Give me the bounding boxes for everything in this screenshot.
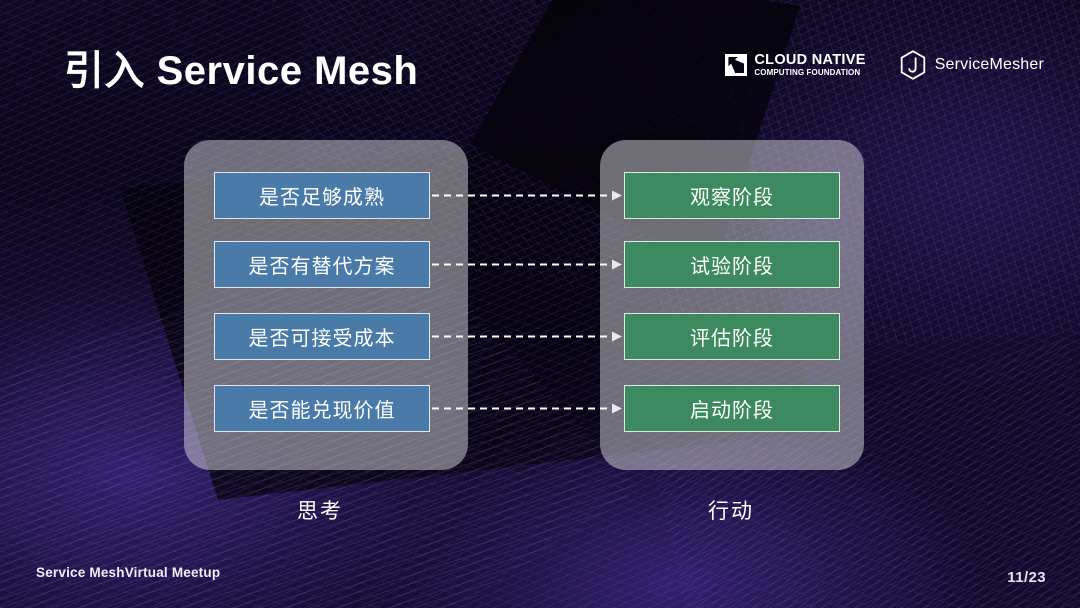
cncf-wordmark: CLOUD NATIVE COMPUTING FOUNDATION (754, 53, 865, 78)
cncf-logo-line2: COMPUTING FOUNDATION (754, 69, 865, 77)
page-title: 引入 Service Mesh (64, 38, 418, 96)
servicemesher-wordmark: ServiceMesher (935, 56, 1044, 74)
cncf-logo-line1: CLOUD NATIVE (754, 53, 865, 68)
action-item-3[interactable]: 启动阶段 (624, 385, 840, 432)
think-item-1[interactable]: 是否有替代方案 (214, 241, 430, 288)
page-number: 11/23 (1007, 569, 1046, 586)
action-item-2[interactable]: 评估阶段 (624, 313, 840, 360)
cncf-square-icon (725, 54, 747, 76)
action-item-1[interactable]: 试验阶段 (624, 241, 840, 288)
slide-canvas: 引入 Service Mesh CLOUD NATIVE COMPUTING F… (0, 0, 1080, 608)
servicemesher-logo: ServiceMesher (900, 50, 1044, 80)
cncf-logo: CLOUD NATIVE COMPUTING FOUNDATION (725, 53, 865, 78)
think-item-2[interactable]: 是否可接受成本 (214, 313, 430, 360)
action-caption: 行动 (708, 495, 754, 525)
action-item-0[interactable]: 观察阶段 (624, 172, 840, 219)
think-item-3[interactable]: 是否能兑现价值 (214, 385, 430, 432)
logo-row: CLOUD NATIVE COMPUTING FOUNDATION Servic… (725, 50, 1044, 80)
think-item-0[interactable]: 是否足够成熟 (214, 172, 430, 219)
footer-event-name: Service MeshVirtual Meetup (36, 565, 220, 580)
thinking-caption: 思考 (297, 495, 343, 525)
hexagon-icon (900, 50, 926, 80)
